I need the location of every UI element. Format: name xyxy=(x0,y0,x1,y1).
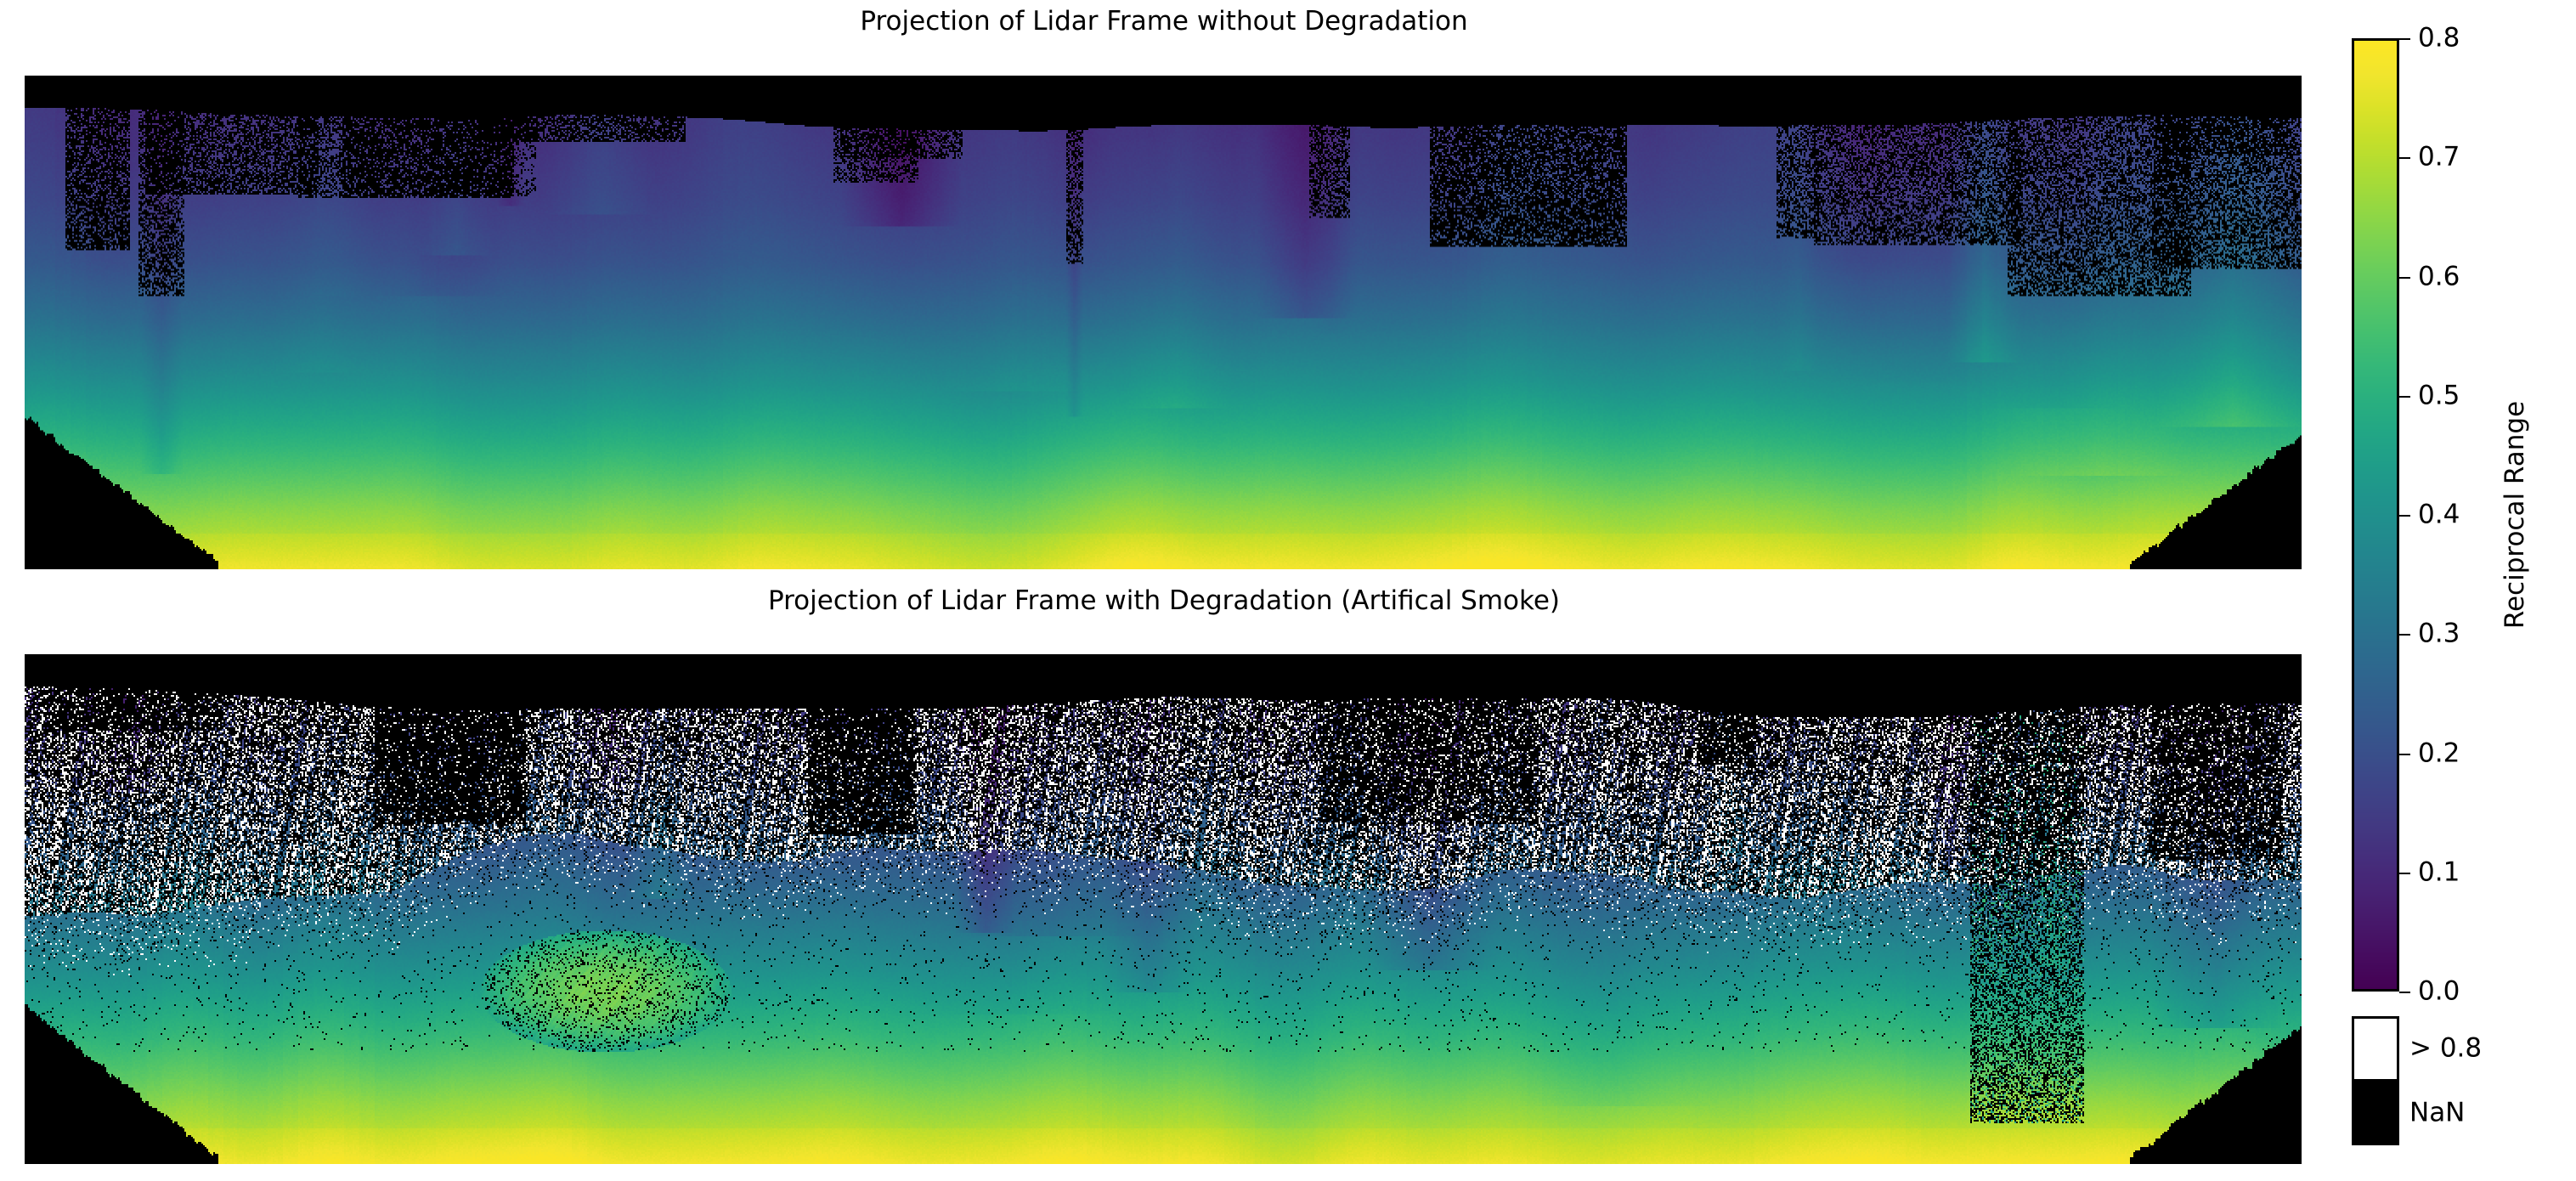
colorbar-ticklabel-0.6: 0.6 xyxy=(2418,263,2460,290)
colorbar-ticklabel-0.0: 0.0 xyxy=(2418,979,2460,1005)
legend-swatch-over-range xyxy=(2354,1019,2397,1081)
legend-label-over-range: > 0.8 xyxy=(2409,1036,2482,1062)
legend-swatch-nan xyxy=(2354,1081,2397,1143)
colorbar-gradient xyxy=(2352,38,2399,992)
figure-canvas: Projection of Lidar Frame without Degrad… xyxy=(0,0,2576,1181)
colorbar-ticklabel-0.3: 0.3 xyxy=(2418,621,2460,647)
colorbar-tick-0.5 xyxy=(2399,396,2410,398)
colorbar-tick-0.7 xyxy=(2399,157,2410,159)
colorbar-tick-0.2 xyxy=(2399,754,2410,755)
panel-title-bottom: Projection of Lidar Frame with Degradati… xyxy=(0,588,2328,614)
panel-title-top: Projection of Lidar Frame without Degrad… xyxy=(0,8,2328,35)
colorbar-ticklabel-0.2: 0.2 xyxy=(2418,740,2460,766)
colorbar-tick-0.8 xyxy=(2399,38,2410,40)
colorbar-tick-0.0 xyxy=(2399,992,2410,993)
colorbar: 0.00.10.20.30.40.50.60.70.8 xyxy=(2352,38,2399,992)
colorbar-ticklabel-0.1: 0.1 xyxy=(2418,859,2460,885)
colorbar-ticklabel-0.8: 0.8 xyxy=(2418,25,2460,52)
lidar-projection-without-degradation xyxy=(25,76,2302,569)
legend-label-nan: NaN xyxy=(2409,1100,2465,1127)
colorbar-ticklabel-0.4: 0.4 xyxy=(2418,502,2460,528)
colorbar-ticklabel-0.5: 0.5 xyxy=(2418,382,2460,409)
colorbar-tick-0.6 xyxy=(2399,277,2410,279)
colorbar-tick-0.3 xyxy=(2399,634,2410,636)
lidar-projection-with-degradation xyxy=(25,654,2302,1164)
colorbar-axis-label: Reciprocal Range xyxy=(2500,401,2530,629)
colorbar-tick-0.1 xyxy=(2399,873,2410,874)
legend-swatches xyxy=(2352,1016,2399,1145)
colorbar-ticklabel-0.7: 0.7 xyxy=(2418,144,2460,171)
colorbar-tick-0.4 xyxy=(2399,515,2410,517)
